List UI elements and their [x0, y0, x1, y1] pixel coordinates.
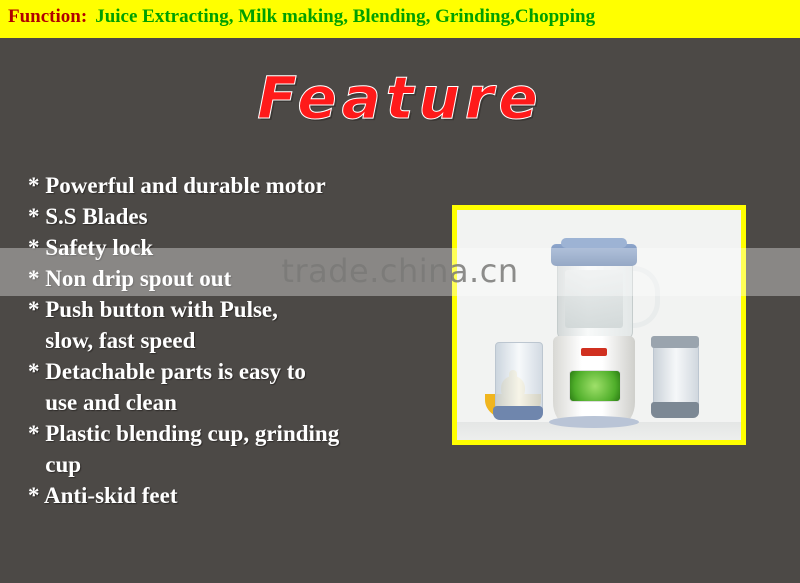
list-item: * Push button with Pulse, slow, fast spe…	[28, 294, 488, 356]
function-bar-underline	[0, 34, 800, 38]
blender-button-shape	[581, 348, 607, 356]
grinding-cup-cap-shape	[651, 336, 699, 348]
product-image-frame	[452, 205, 746, 445]
promo-image: Function: Juice Extracting, Milk making,…	[0, 0, 800, 583]
blending-cup-base-shape	[493, 406, 543, 420]
list-item: * S.S Blades	[28, 201, 488, 232]
grinding-cup-base-shape	[651, 402, 699, 418]
blender-lid-top-shape	[561, 238, 627, 248]
blending-cup-shape	[495, 342, 543, 416]
function-bar: Function: Juice Extracting, Milk making,…	[0, 0, 800, 34]
blender-label-shape	[569, 370, 621, 402]
watermark: trade.china.cn	[0, 252, 800, 290]
blender-foot-shape	[549, 416, 639, 428]
list-item: * Detachable parts is easy to use and cl…	[28, 356, 488, 418]
page-title: Feature	[0, 64, 800, 132]
product-photo	[457, 210, 741, 440]
function-label: Function:	[0, 6, 87, 28]
list-item: * Powerful and durable motor	[28, 170, 488, 201]
function-value: Juice Extracting, Milk making, Blending,…	[87, 6, 595, 28]
list-item: * Plastic blending cup, grinding cup	[28, 418, 488, 480]
list-item: * Anti-skid feet	[28, 480, 488, 511]
feature-list: * Powerful and durable motor * S.S Blade…	[28, 170, 488, 511]
